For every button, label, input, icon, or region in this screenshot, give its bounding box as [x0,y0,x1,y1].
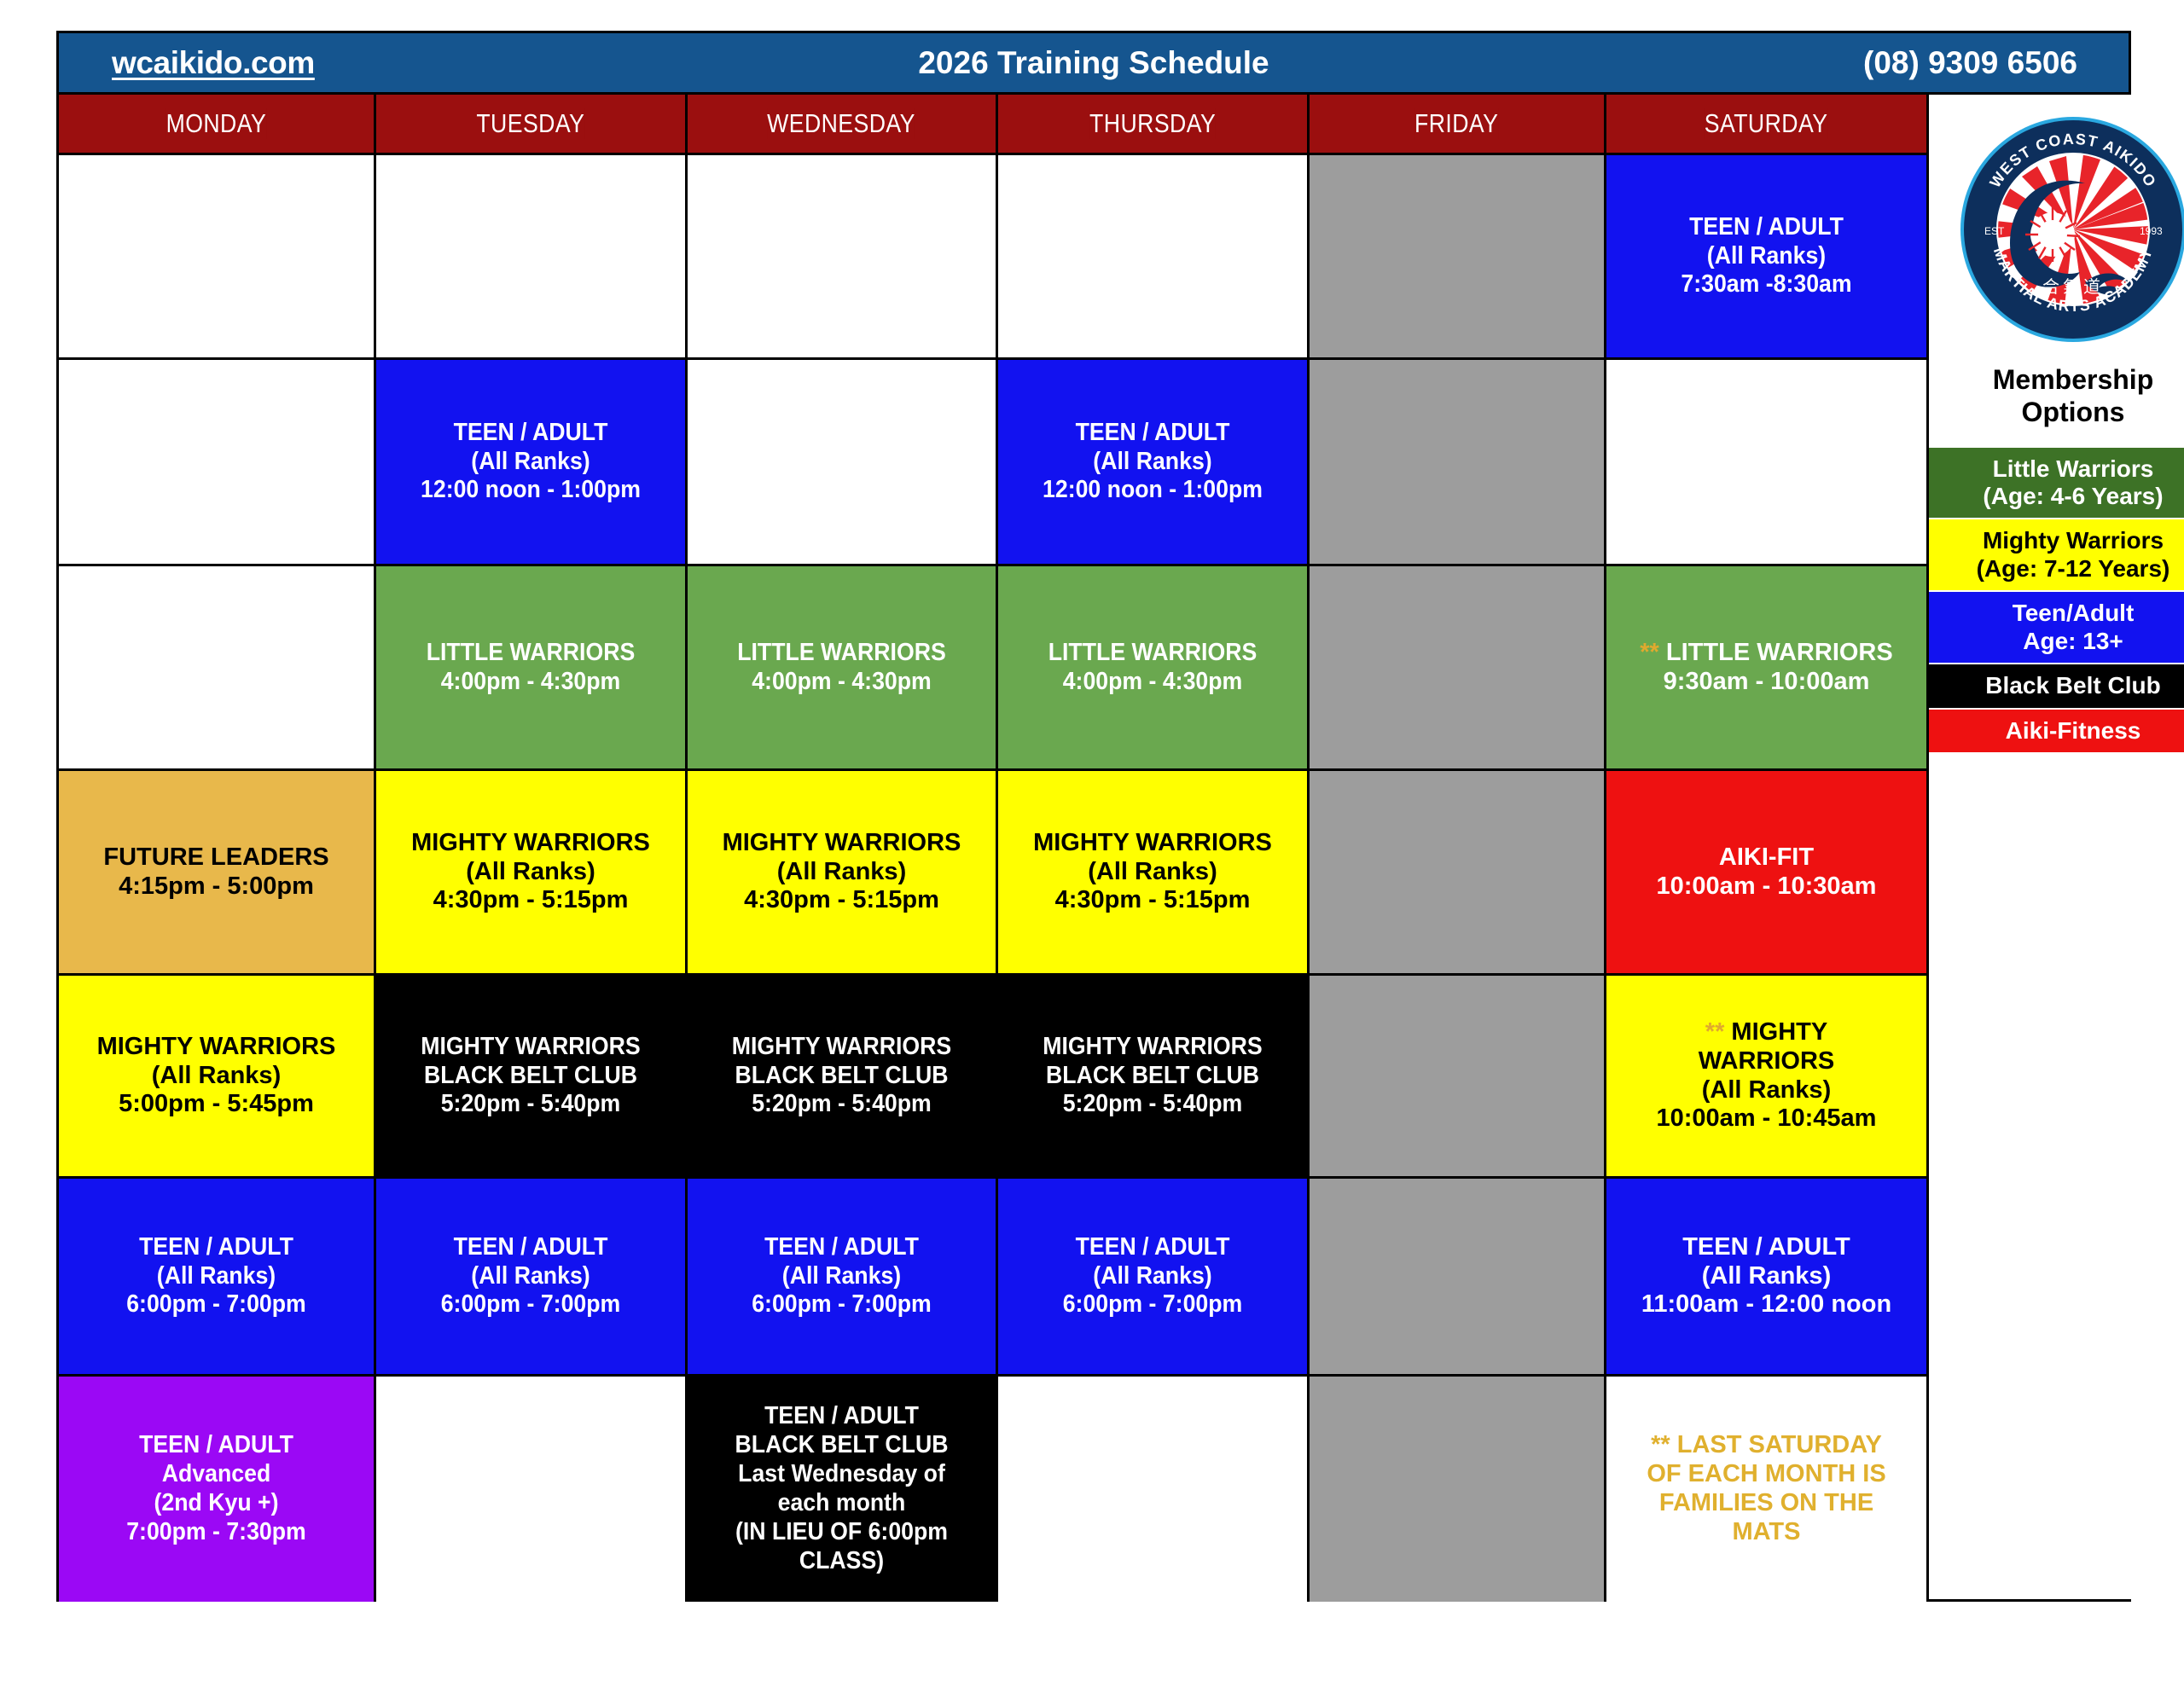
slot-tuesday-3[interactable]: LITTLE WARRIORS 4:00pm - 4:30pm [376,566,688,771]
schedule-page: wcaikido.com 2026 Training Schedule (08)… [0,0,2184,1687]
day-header-monday-label: MONDAY [166,108,267,139]
slot-monday-7[interactable]: TEEN / ADULT Advanced (2nd Kyu +) 7:00pm… [59,1377,376,1602]
slot-monday-4[interactable]: FUTURE LEADERS 4:15pm - 5:00pm [59,771,376,976]
slot-friday-3[interactable] [1310,566,1606,771]
slot-tuesday-6[interactable]: TEEN / ADULT (All Ranks) 6:00pm - 7:00pm [376,1179,688,1377]
website-link[interactable]: wcaikido.com [59,45,742,81]
day-header-thursday-label: THURSDAY [1089,108,1216,139]
slot-friday-4[interactable] [1310,771,1606,976]
slot-friday-2[interactable] [1310,360,1606,566]
slot-wednesday-7[interactable]: TEEN / ADULT BLACK BELT CLUB Last Wednes… [688,1377,998,1602]
schedule-row: LITTLE WARRIORS 4:00pm - 4:30pm LITTLE W… [59,566,1926,771]
day-header-tuesday: TUESDAY [376,95,688,155]
slot-saturday-7[interactable]: ** LAST SATURDAY OF EACH MONTH IS FAMILI… [1606,1377,1926,1602]
slot-monday-1[interactable] [59,155,376,360]
west-coast-aikido-logo-icon: WEST COAST AIKIDO MARTIAL ARTS ACADEMY E… [1959,115,2184,344]
schedule-sheet: wcaikido.com 2026 Training Schedule (08)… [56,31,2131,1602]
schedule-row: MIGHTY WARRIORS (All Ranks) 5:00pm - 5:4… [59,976,1926,1179]
logo-est-year: 1993 [2140,225,2163,237]
membership-legend: Little Warriors (Age: 4-6 Years) Mighty … [1929,448,2184,753]
slot-saturday-5[interactable]: ** MIGHTYWARRIORS(All Ranks)10:00am - 10… [1606,976,1926,1179]
schedule-row: FUTURE LEADERS 4:15pm - 5:00pm MIGHTY WA… [59,771,1926,976]
sidebar-panel: WEST COAST AIKIDO MARTIAL ARTS ACADEMY E… [1929,95,2184,1599]
day-header-saturday-label: SATURDAY [1705,108,1828,139]
slot-saturday-2[interactable] [1606,360,1926,566]
membership-options-title: Membership Options [1993,364,2153,429]
day-header-thursday: THURSDAY [998,95,1310,155]
slot-wednesday-1[interactable] [688,155,998,360]
slot-tuesday-1[interactable] [376,155,688,360]
slot-wednesday-4[interactable]: MIGHTY WARRIORS (All Ranks) 4:30pm - 5:1… [688,771,998,976]
logo-kanji: 合氣道 [2042,276,2104,297]
slot-thursday-7[interactable] [998,1377,1310,1602]
slot-friday-1[interactable] [1310,155,1606,360]
slot-friday-7[interactable] [1310,1377,1606,1602]
day-header-wednesday: WEDNESDAY [688,95,998,155]
schedule-row: TEEN / ADULT (All Ranks) 12:00 noon - 1:… [59,360,1926,566]
day-header-monday: MONDAY [59,95,376,155]
day-header-friday: FRIDAY [1310,95,1606,155]
header-bar: wcaikido.com 2026 Training Schedule (08)… [59,33,2129,95]
slot-saturday-3[interactable]: ** LITTLE WARRIORS9:30am - 10:00am [1606,566,1926,771]
slot-thursday-5[interactable]: MIGHTY WARRIORS BLACK BELT CLUB 5:20pm -… [998,976,1310,1179]
slot-monday-3[interactable] [59,566,376,771]
schedule-row: TEEN / ADULT (All Ranks) 6:00pm - 7:00pm… [59,1179,1926,1377]
week-grid: MONDAY TUESDAY WEDNESDAY THURSDAY FRIDAY… [59,95,1929,1599]
legend-item-aiki-fitness[interactable]: Aiki-Fitness [1929,710,2184,752]
schedule-row: TEEN / ADULT (All Ranks) 7:30am -8:30am [59,155,1926,360]
slot-thursday-6[interactable]: TEEN / ADULT (All Ranks) 6:00pm - 7:00pm [998,1179,1310,1377]
slot-tuesday-4[interactable]: MIGHTY WARRIORS (All Ranks) 4:30pm - 5:1… [376,771,688,976]
slot-tuesday-2[interactable]: TEEN / ADULT (All Ranks) 12:00 noon - 1:… [376,360,688,566]
slot-saturday-4[interactable]: AIKI-FIT 10:00am - 10:30am [1606,771,1926,976]
slot-wednesday-5[interactable]: MIGHTY WARRIORS BLACK BELT CLUB 5:20pm -… [688,976,998,1179]
slot-friday-5[interactable] [1310,976,1606,1179]
slot-thursday-2[interactable]: TEEN / ADULT (All Ranks) 12:00 noon - 1:… [998,360,1310,566]
slot-thursday-1[interactable] [998,155,1310,360]
slot-monday-6[interactable]: TEEN / ADULT (All Ranks) 6:00pm - 7:00pm [59,1179,376,1377]
slot-monday-5[interactable]: MIGHTY WARRIORS (All Ranks) 5:00pm - 5:4… [59,976,376,1179]
legend-item-mighty-warriors[interactable]: Mighty Warriors (Age: 7-12 Years) [1929,519,2184,590]
schedule-row: TEEN / ADULT Advanced (2nd Kyu +) 7:00pm… [59,1377,1926,1602]
slot-wednesday-6[interactable]: TEEN / ADULT (All Ranks) 6:00pm - 7:00pm [688,1179,998,1377]
slot-thursday-3[interactable]: LITTLE WARRIORS 4:00pm - 4:30pm [998,566,1310,771]
slot-wednesday-3[interactable]: LITTLE WARRIORS 4:00pm - 4:30pm [688,566,998,771]
phone-number[interactable]: (08) 9309 6506 [1445,45,2129,81]
page-title: 2026 Training Schedule [742,45,1446,81]
legend-item-teen-adult[interactable]: Teen/Adult Age: 13+ [1929,592,2184,663]
schedule-body: MONDAY TUESDAY WEDNESDAY THURSDAY FRIDAY… [59,95,2129,1599]
slot-wednesday-2[interactable] [688,360,998,566]
slot-tuesday-7[interactable] [376,1377,688,1602]
logo-est-label: EST [1984,225,2005,237]
legend-item-little-warriors[interactable]: Little Warriors (Age: 4-6 Years) [1929,448,2184,519]
day-header-row: MONDAY TUESDAY WEDNESDAY THURSDAY FRIDAY… [59,95,1926,155]
slot-saturday-1[interactable]: TEEN / ADULT (All Ranks) 7:30am -8:30am [1606,155,1926,360]
day-header-saturday: SATURDAY [1606,95,1926,155]
slot-friday-6[interactable] [1310,1179,1606,1377]
slot-thursday-4[interactable]: MIGHTY WARRIORS (All Ranks) 4:30pm - 5:1… [998,771,1310,976]
slot-tuesday-5[interactable]: MIGHTY WARRIORS BLACK BELT CLUB 5:20pm -… [376,976,688,1179]
day-header-wednesday-label: WEDNESDAY [768,108,916,139]
legend-item-black-belt-club[interactable]: Black Belt Club [1929,664,2184,707]
slot-monday-2[interactable] [59,360,376,566]
slot-saturday-6[interactable]: TEEN / ADULT (All Ranks) 11:00am - 12:00… [1606,1179,1926,1377]
club-logo: WEST COAST AIKIDO MARTIAL ARTS ACADEMY E… [1959,115,2184,344]
day-header-tuesday-label: TUESDAY [477,108,585,139]
day-header-friday-label: FRIDAY [1414,108,1498,139]
